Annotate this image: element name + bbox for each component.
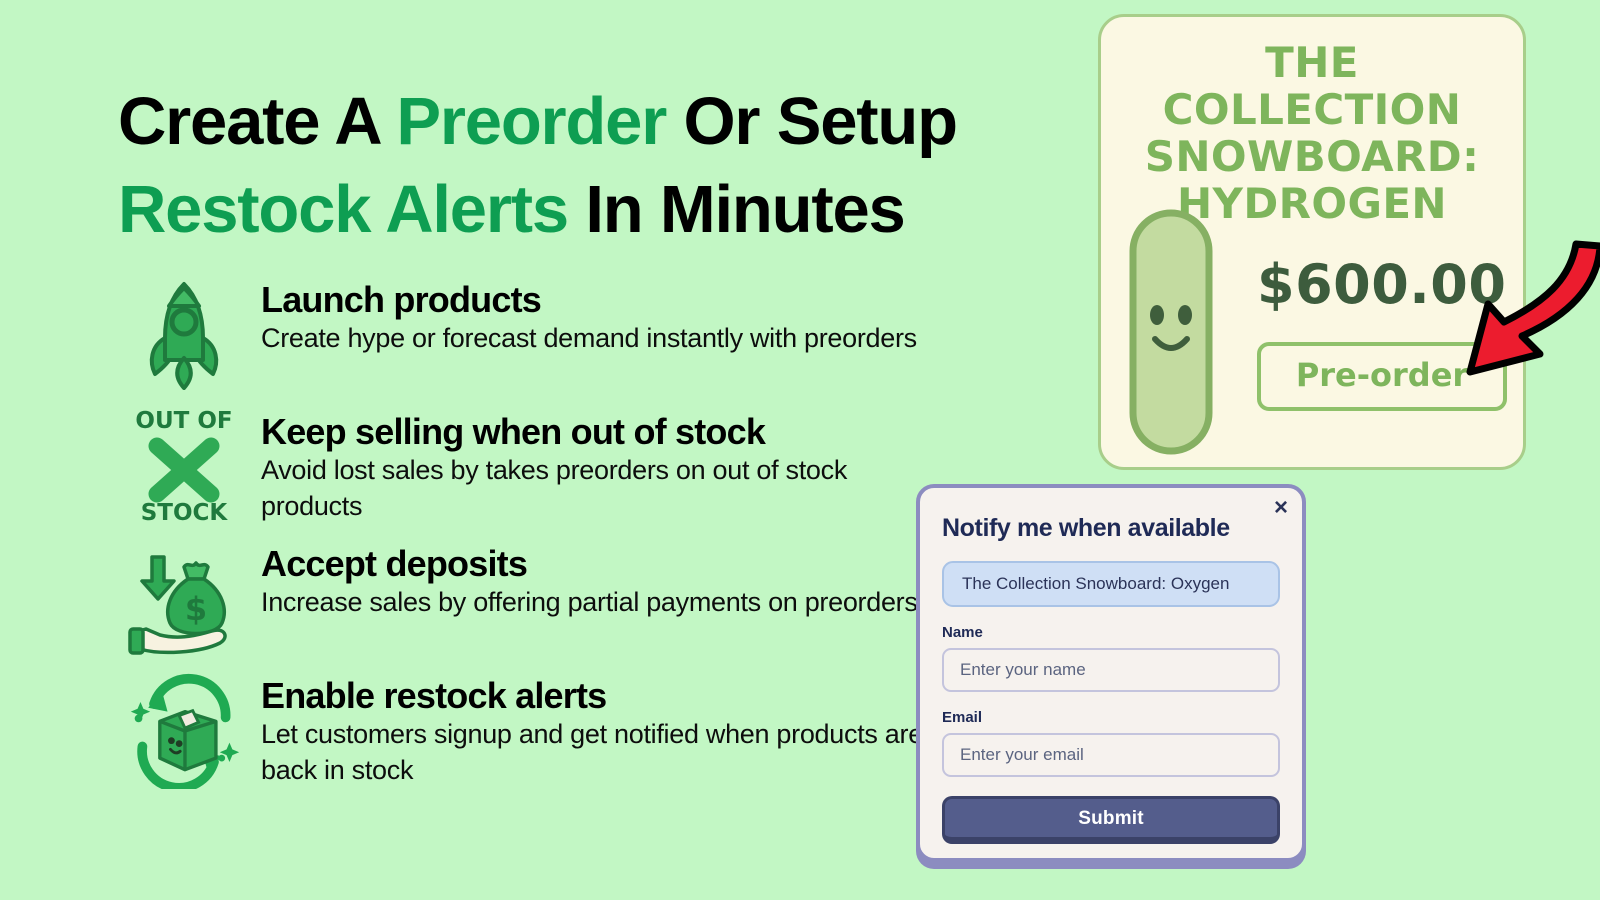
headline-highlight-preorder: Preorder — [396, 84, 666, 159]
feature-title: Enable restock alerts — [261, 676, 955, 716]
submit-button[interactable]: Submit — [942, 796, 1280, 844]
preorder-button[interactable]: Pre-order — [1257, 342, 1507, 411]
feature-list: Launch products Create hype or forecast … — [125, 272, 955, 800]
feature-item: $ Accept deposits Increase sales by offe… — [125, 536, 955, 662]
page-title: Create A Preorder Or Setup Restock Alert… — [118, 78, 1098, 255]
close-icon[interactable]: × — [1274, 496, 1288, 520]
feature-item: Launch products Create hype or forecast … — [125, 272, 955, 398]
restock-box-arrows-icon — [125, 668, 243, 794]
product-price: $600.00 — [1257, 253, 1507, 316]
feature-description: Avoid lost sales by takes preorders on o… — [261, 453, 955, 525]
headline-line-2: Restock Alerts In Minutes — [118, 166, 1098, 254]
product-card-details: $600.00 Pre-order — [1243, 207, 1507, 411]
feature-description: Create hype or forecast demand instantly… — [261, 321, 917, 357]
feature-text: Accept deposits Increase sales by offeri… — [261, 536, 918, 621]
feature-item: Enable restock alerts Let customers sign… — [125, 668, 955, 794]
feature-title: Accept deposits — [261, 544, 918, 584]
out-of-stock-bottom-text: STOCK — [141, 500, 229, 526]
headline-text-2: Or Setup — [666, 84, 957, 159]
headline-line-1: Create A Preorder Or Setup — [118, 78, 1098, 166]
product-card: THE COLLECTION SNOWBOARD: HYDROGEN $600.… — [1098, 14, 1526, 470]
feature-description: Let customers signup and get notified wh… — [261, 717, 955, 789]
money-bag-in-hand-icon: $ — [125, 536, 243, 662]
out-of-stock-x-icon: OUT OF STOCK — [125, 404, 243, 530]
rocket-icon — [125, 272, 243, 398]
out-of-stock-top-text: OUT OF — [135, 408, 232, 434]
headline-text-3: In Minutes — [568, 172, 905, 247]
smiling-snowboard-icon — [1123, 207, 1243, 462]
headline-text-1: Create A — [118, 84, 396, 159]
email-input[interactable] — [942, 733, 1280, 777]
notify-me-modal: × Notify me when available The Collectio… — [916, 484, 1306, 862]
promo-banner: Create A Preorder Or Setup Restock Alert… — [0, 0, 1600, 900]
feature-item: OUT OF STOCK Keep selling when out of st… — [125, 404, 955, 530]
email-label: Email — [942, 709, 1280, 726]
selected-product-chip[interactable]: The Collection Snowboard: Oxygen — [942, 561, 1280, 607]
feature-title: Keep selling when out of stock — [261, 412, 955, 452]
product-card-body: $600.00 Pre-order — [1123, 207, 1507, 462]
modal-title: Notify me when available — [942, 514, 1280, 543]
feature-description: Increase sales by offering partial payme… — [261, 585, 918, 621]
svg-text:$: $ — [185, 590, 207, 628]
feature-text: Launch products Create hype or forecast … — [261, 272, 917, 357]
name-label: Name — [942, 624, 1280, 641]
name-input[interactable] — [942, 648, 1280, 692]
product-title: THE COLLECTION SNOWBOARD: HYDROGEN — [1121, 39, 1503, 227]
feature-title: Launch products — [261, 280, 917, 320]
feature-text: Enable restock alerts Let customers sign… — [261, 668, 955, 789]
headline-highlight-restock-alerts: Restock Alerts — [118, 172, 568, 247]
feature-text: Keep selling when out of stock Avoid los… — [261, 404, 955, 525]
